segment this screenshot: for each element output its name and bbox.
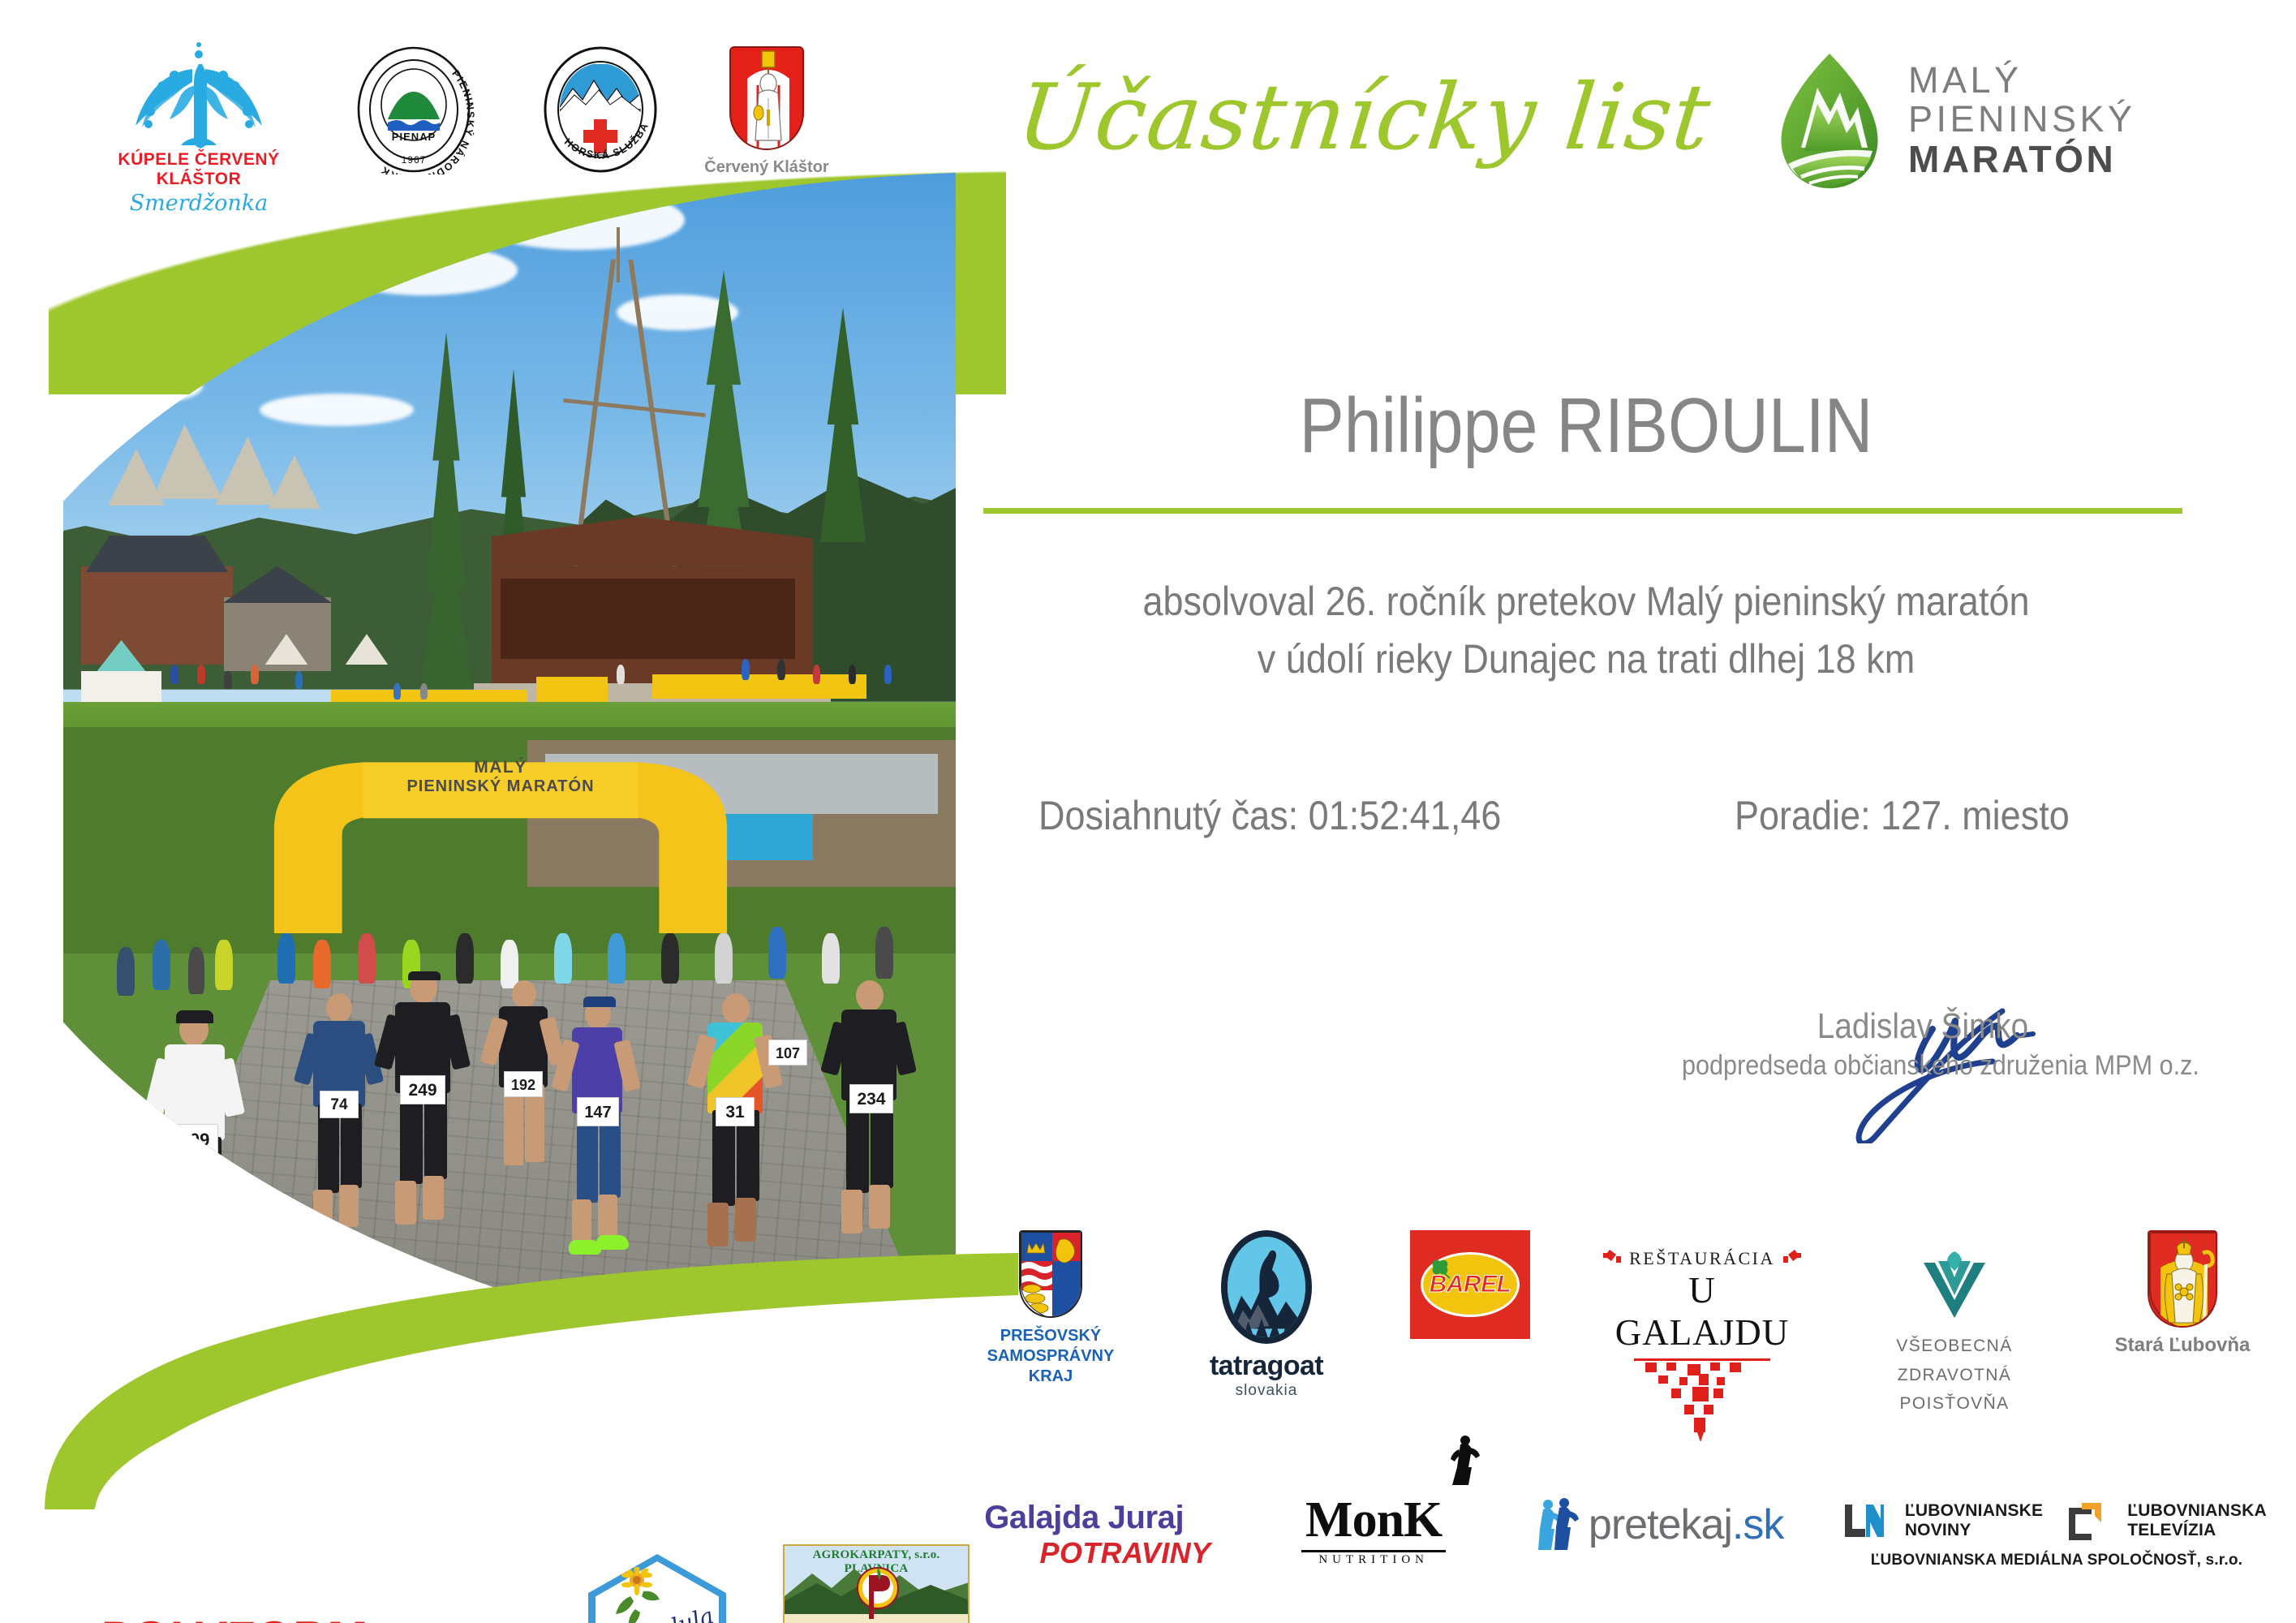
bib-192: 192: [504, 1071, 543, 1097]
psk-caption: PREŠOVSKÝ SAMOSPRÁVNY KRAJ: [970, 1326, 1132, 1388]
ln-line1: ĽUBOVNIANSKE: [1905, 1501, 2043, 1521]
agrokarpaty-emblem-icon: [856, 1565, 900, 1623]
certificate-body-line-1: absolvoval 26. ročník pretekov Malý pien…: [1043, 578, 2130, 625]
logo-pieninsky-narodny-park: PIENAP 1967 PIENINSKÝ NÁRODNÝ PARK: [320, 37, 507, 174]
sponsor-row-primary: PREŠOVSKÝ SAMOSPRÁVNY KRAJ ® tatragoat s…: [970, 1230, 2259, 1437]
cerveny-klastor-shield-icon: [729, 46, 804, 150]
tatragoat-chamois-icon: ®: [1221, 1230, 1312, 1344]
tatragoat-registered-icon: ®: [1301, 1235, 1310, 1249]
monk-running-figure-icon: [1444, 1435, 1481, 1485]
polyform-wordmark: POLYFORM: [97, 1612, 363, 1623]
certificate-page: KÚPELE ČERVENÝ KLÁŠTOR Smerdžonka PIENAP…: [0, 0, 2296, 1623]
white-mask-bottom: [45, 1295, 1018, 1539]
bib-31: 31: [716, 1097, 755, 1126]
logo-monk-nutrition: MonK NUTRITION: [1254, 1477, 1493, 1567]
recipient-name: Philippe RIBOULIN: [1066, 381, 2105, 471]
photo-amphitheatre: [63, 159, 956, 776]
vzp-caption: VŠEOBECNÁ ZDRAVOTNÁ POISŤOVŇA: [1865, 1332, 2044, 1419]
logo-cerveny-klastor: Červený Kláštor: [694, 37, 840, 177]
signatory-name: Ladislav Šimko: [1688, 1006, 2159, 1047]
galajda-line1: Galajda Juraj: [957, 1500, 1210, 1536]
logo-galajda-juraj: Galajda Juraj POTRAVINY: [957, 1477, 1210, 1570]
logo-presovsky-samospravny-kraj: PREŠOVSKÝ SAMOSPRÁVNY KRAJ: [970, 1230, 1132, 1388]
logo-barel: BAREL: [1401, 1230, 1539, 1339]
signatory-role: podpredseda občianskeho združenia MPM o.…: [1682, 1050, 2164, 1082]
calendula-flower-icon: [611, 1567, 671, 1623]
left-sponsor-strip: POLYFORM® Polystyrén: [77, 1546, 961, 1623]
ltv-monogram-icon: [2064, 1501, 2106, 1540]
pienap-seal-icon: PIENAP 1967 PIENINSKÝ NÁRODNÝ PARK: [349, 45, 479, 174]
bib-249: 249: [400, 1075, 445, 1104]
galajdu-wordmark: U GALAJDU: [1601, 1269, 1804, 1354]
lms-company: ĽUBOVNIANSKA MEDIÁLNA SPOLOČNOSŤ, s.r.o.: [1842, 1552, 2272, 1569]
psk-shield-icon: [1019, 1230, 1082, 1318]
photo-collage: MALÝ PIENINSKÝ MARATÓN: [63, 159, 956, 1393]
mpm-leaf-mountain-icon: [1769, 50, 1890, 190]
tatragoat-wordmark: tatragoat: [1193, 1350, 1339, 1382]
logo-horska-sluzba: PIENINSKÝ NÁRODNÝ PARK HORSKÁ SLUŽBA: [507, 37, 694, 174]
bib-147: 147: [577, 1097, 619, 1126]
ltv-line1: ĽUBOVNIANSKA: [2127, 1501, 2267, 1521]
svg-text:PIENINSKÝ NÁRODNÝ PARK: PIENINSKÝ NÁRODNÝ PARK: [535, 45, 540, 47]
logo-tatragoat: ® tatragoat slovakia: [1193, 1230, 1339, 1400]
galajda-line2: POTRAVINY: [957, 1536, 1210, 1570]
mpm-line-2: PIENINSKÝ: [1908, 100, 2136, 140]
clover-icon: [1430, 1258, 1451, 1279]
tatragoat-sub: slovakia: [1193, 1382, 1339, 1400]
mpm-line-1: MALÝ: [1908, 61, 2136, 101]
stara-lubovna-caption: Stará Ľubovňa: [2105, 1334, 2259, 1357]
signature-block: Ladislav Šimko podpredseda občianskeho z…: [1655, 1006, 2191, 1082]
sponsor-row-secondary: Galajda Juraj POTRAVINY MonK NUTRITION: [957, 1477, 2272, 1615]
folk-pattern-icon: [1629, 1363, 1775, 1442]
logo-agrokarpaty: AGROKARPATY, s.r.o. PLAVNICA elixír NAJV…: [783, 1544, 970, 1623]
ln-monogram-icon: [1842, 1501, 1884, 1540]
certificate-body-line-2: v údolí rieky Dunajec na trati dlhej 18 …: [1043, 635, 2130, 682]
arch-line-2: PIENINSKÝ MARATÓN: [366, 777, 635, 796]
result-time: Dosiahnutý čas: 01:52:41,46: [1038, 792, 1501, 839]
bib-107: 107: [768, 1040, 807, 1065]
pretekaj-wordmark: pretekaj: [1589, 1501, 1732, 1548]
page-title: Účastnícky list: [1013, 65, 1716, 170]
logo-stara-lubovna: Stará Ľubovňa: [2105, 1230, 2259, 1357]
mpm-line-3: MARATÓN: [1908, 140, 2136, 180]
horska-sluzba-seal-icon: PIENINSKÝ NÁRODNÝ PARK HORSKÁ SLUŽBA: [535, 45, 665, 174]
water-angel-icon: [77, 37, 320, 150]
monk-wordmark: MonK: [1254, 1492, 1493, 1549]
ln-line2: NOVINY: [1905, 1521, 2043, 1540]
barel-badge: BAREL: [1410, 1230, 1530, 1339]
event-logo: MALÝ PIENINSKÝ MARATÓN: [1769, 47, 2272, 193]
folk-ornament-right-icon: [1782, 1250, 1803, 1268]
bib-74: 74: [320, 1091, 359, 1118]
folk-ornament-left-icon: [1602, 1250, 1623, 1268]
divider-rule: [983, 508, 2182, 514]
logo-calendula: Calendula: [588, 1554, 726, 1623]
result-rank: Poradie: 127. miesto: [1735, 792, 2070, 839]
logo-pretekaj-sk: pretekaj.sk: [1537, 1477, 1798, 1552]
logo-vseobecna-zdravotna-poistovna: VŠEOBECNÁ ZDRAVOTNÁ POISŤOVŇA: [1865, 1230, 2044, 1419]
logo-restauracia-u-galajdu: REŠTAURÁCIA U GALAJDU: [1601, 1230, 1804, 1446]
bib-234: 234: [849, 1084, 893, 1113]
svg-text:PIENAP: PIENAP: [392, 131, 436, 143]
stara-lubovna-shield-icon: [2148, 1230, 2217, 1328]
galajdu-top: REŠTAURÁCIA: [1629, 1248, 1775, 1269]
finish-arch: MALÝ PIENINSKÝ MARATÓN: [242, 734, 759, 933]
ltv-line2: TELEVÍZIA: [2127, 1521, 2267, 1540]
bib-209: 209: [171, 1124, 218, 1155]
arch-line-1: MALÝ: [366, 758, 635, 777]
logo-polyform: POLYFORM® Polystyrén: [97, 1611, 377, 1623]
pretekaj-tld: .sk: [1732, 1501, 1783, 1548]
pretekaj-runners-icon: [1537, 1498, 1580, 1552]
logo-lubovnianske-media: ĽUBOVNIANSKE NOVINY ĽUBOVNIANSKA TELEVÍZ…: [1842, 1477, 2272, 1569]
monk-sub: NUTRITION: [1254, 1553, 1493, 1567]
vzp-chevron-icon: [1914, 1250, 1995, 1318]
